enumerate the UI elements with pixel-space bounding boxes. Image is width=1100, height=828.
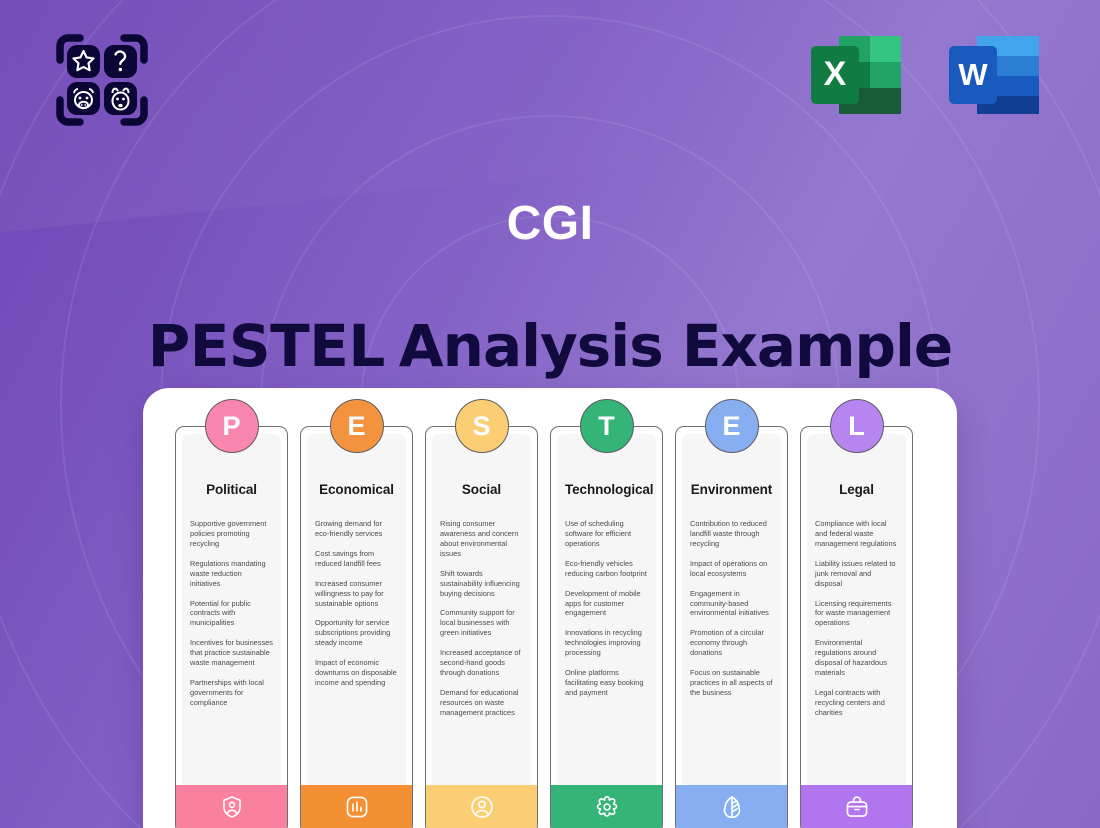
pestel-point: Contribution to reduced landfill waste t… [690, 519, 773, 549]
pestel-letter-badge: L [830, 399, 884, 453]
svg-text:X: X [824, 55, 847, 93]
leaf-icon [719, 794, 745, 825]
pestel-point: Liability issues related to junk removal… [815, 559, 898, 589]
pestel-point: Engagement in community-based environmen… [690, 589, 773, 619]
pestel-icon-box [426, 785, 537, 828]
pestel-column-title: Technological [565, 482, 648, 497]
pestel-column-panel: SocialRising consumer awareness and conc… [432, 434, 531, 785]
pestel-column-political[interactable]: PPoliticalSupportive government policies… [175, 426, 288, 828]
pestel-column-panel: TechnologicalUse of scheduling software … [557, 434, 656, 785]
page-title: PESTELAnalysis Example [0, 312, 1100, 380]
pestel-column-technological[interactable]: TTechnologicalUse of scheduling software… [550, 426, 663, 828]
pestel-column-legal[interactable]: LLegalCompliance with local and federal … [800, 426, 913, 828]
pestel-column-title: Political [190, 482, 273, 497]
pestel-point: Online platforms facilitating easy booki… [565, 668, 648, 698]
pestel-letter-badge: E [705, 399, 759, 453]
pestel-point-list: Growing demand for eco-friendly services… [315, 519, 398, 688]
pestel-point: Innovations in recycling technologies im… [565, 628, 648, 658]
microsoft-word-icon: W [946, 32, 1042, 120]
pestel-column-economical[interactable]: EEconomicalGrowing demand for eco-friend… [300, 426, 413, 828]
pestel-column-panel: PoliticalSupportive government policies … [182, 434, 281, 785]
office-apps-group: X W [808, 32, 1042, 120]
pestel-icon-box [801, 785, 912, 828]
pestel-letter-badge: S [455, 399, 509, 453]
pestel-letter-badge: P [205, 399, 259, 453]
pestel-point: Impact of operations on local ecosystems [690, 559, 773, 579]
pestel-letter-badge: T [580, 399, 634, 453]
pestel-point: Licensing requirements for waste managem… [815, 599, 898, 629]
pestel-point-list: Supportive government policies promoting… [190, 519, 273, 708]
svg-text:W: W [958, 57, 988, 92]
pestel-column-title: Environment [690, 482, 773, 497]
pestel-column-title: Economical [315, 482, 398, 497]
pestel-point: Environmental regulations around disposa… [815, 638, 898, 678]
pestel-point: Partnerships with local governments for … [190, 678, 273, 708]
pestel-columns: PPoliticalSupportive government policies… [175, 426, 913, 828]
pestel-board: PPoliticalSupportive government policies… [143, 388, 957, 828]
page-title-part1: PESTEL [148, 312, 385, 380]
user-circle-icon [469, 794, 495, 825]
pestel-point: Supportive government policies promoting… [190, 519, 273, 549]
page-title-part2: Analysis Example [399, 312, 952, 380]
gear-icon [594, 794, 620, 825]
pestel-icon-box [301, 785, 412, 828]
pestel-point: Eco-friendly vehicles reducing carbon fo… [565, 559, 648, 579]
pestel-icon-box [676, 785, 787, 828]
pestel-point: Rising consumer awareness and concern ab… [440, 519, 523, 559]
microsoft-excel-icon: X [808, 32, 904, 120]
company-name: CGI [0, 196, 1100, 251]
pestel-point: Use of scheduling software for efficient… [565, 519, 648, 549]
quiz-animals-logo-icon [52, 30, 152, 130]
briefcase-icon [844, 794, 870, 825]
pestel-point: Potential for public contracts with muni… [190, 599, 273, 629]
pestel-column-title: Legal [815, 482, 898, 497]
pestel-icon-box [551, 785, 662, 828]
pestel-point: Shift towards sustainability influencing… [440, 569, 523, 599]
pestel-point: Community support for local businesses w… [440, 608, 523, 638]
bar-chart-icon [344, 794, 370, 825]
pestel-column-title: Social [440, 482, 523, 497]
pestel-point: Compliance with local and federal waste … [815, 519, 898, 549]
pestel-column-panel: EnvironmentContribution to reduced landf… [682, 434, 781, 785]
pestel-letter-badge: E [330, 399, 384, 453]
pestel-point-list: Rising consumer awareness and concern ab… [440, 519, 523, 718]
pestel-point: Promotion of a circular economy through … [690, 628, 773, 658]
pestel-point: Increased acceptance of second-hand good… [440, 648, 523, 678]
pestel-column-panel: LegalCompliance with local and federal w… [807, 434, 906, 785]
pestel-point: Regulations mandating waste reduction in… [190, 559, 273, 589]
pestel-point: Impact of economic downturns on disposab… [315, 658, 398, 688]
pestel-column-panel: EconomicalGrowing demand for eco-friendl… [307, 434, 406, 785]
pestel-point: Incentives for businesses that practice … [190, 638, 273, 668]
pestel-point-list: Contribution to reduced landfill waste t… [690, 519, 773, 698]
pestel-point: Legal contracts with recycling centers a… [815, 688, 898, 718]
pestel-point: Cost savings from reduced landfill fees [315, 549, 398, 569]
pestel-column-environment[interactable]: EEnvironmentContribution to reduced land… [675, 426, 788, 828]
pestel-point: Focus on sustainable practices in all as… [690, 668, 773, 698]
pestel-icon-box [176, 785, 287, 828]
pestel-point: Development of mobile apps for customer … [565, 589, 648, 619]
pestel-point-list: Use of scheduling software for efficient… [565, 519, 648, 698]
pestel-column-social[interactable]: SSocialRising consumer awareness and con… [425, 426, 538, 828]
shield-user-icon [219, 794, 245, 825]
pestel-point: Growing demand for eco-friendly services [315, 519, 398, 539]
pestel-point: Increased consumer willingness to pay fo… [315, 579, 398, 609]
pestel-point: Opportunity for service subscriptions pr… [315, 618, 398, 648]
pestel-point: Demand for educational resources on wast… [440, 688, 523, 718]
pestel-point-list: Compliance with local and federal waste … [815, 519, 898, 718]
